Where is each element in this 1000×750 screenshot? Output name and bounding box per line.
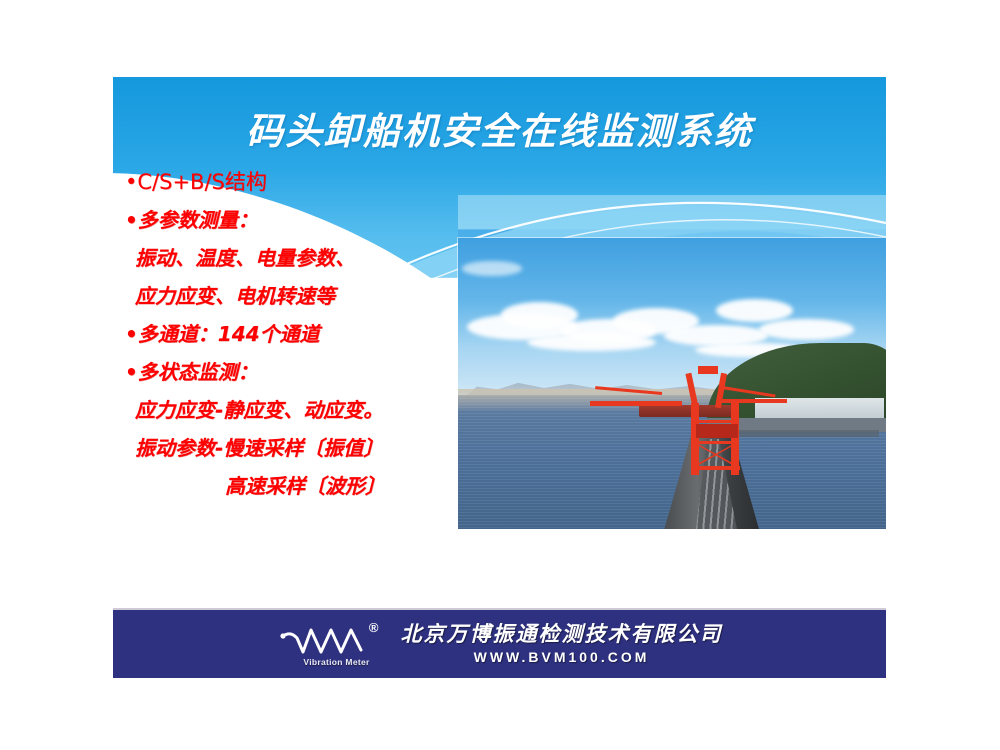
vibration-meter-logo: ® Vibration Meter	[277, 620, 387, 668]
slide-canvas: 码头卸船机安全在线监测系统 •C/S+B/S结构 •多参数测量： 振动、温度、电…	[113, 77, 886, 607]
footer-bar: ® Vibration Meter 北京万博振通检测技术有限公司 WWW.BVM…	[113, 608, 886, 678]
bullet-list: •C/S+B/S结构 •多参数测量： 振动、温度、电量参数、 应力应变、电机转速…	[125, 163, 485, 505]
bullet-param-list-2: 应力应变、电机转速等	[125, 277, 485, 315]
footer-company-block: 北京万博振通检测技术有限公司 WWW.BVM100.COM	[401, 624, 723, 664]
photo-cloud	[759, 319, 854, 339]
port-ship-unloader-photo	[458, 238, 886, 529]
company-name-cn: 北京万博振通检测技术有限公司	[401, 624, 723, 645]
photo-red-crane	[669, 366, 781, 482]
company-website: WWW.BVM100.COM	[474, 650, 650, 664]
bullet-multi-state: •多状态监测：	[125, 353, 485, 391]
bullet-state-vib-fast: 高速采样〔波形〕	[125, 467, 485, 505]
bullet-multi-channel: •多通道：144个通道	[125, 315, 485, 353]
logo-caption: Vibration Meter	[291, 657, 383, 667]
registered-trademark-icon: ®	[369, 620, 379, 635]
bullet-multi-param: •多参数测量：	[125, 201, 485, 239]
page-title: 码头卸船机安全在线监测系统	[113, 101, 886, 155]
bullet-state-strain: 应力应变-静应变、动应变。	[125, 391, 485, 429]
bullet-param-list-1: 振动、温度、电量参数、	[125, 239, 485, 277]
photo-cloud	[462, 261, 522, 276]
bullet-structure: •C/S+B/S结构	[125, 163, 485, 201]
bullet-state-vib-slow: 振动参数-慢速采样〔振值〕	[125, 429, 485, 467]
